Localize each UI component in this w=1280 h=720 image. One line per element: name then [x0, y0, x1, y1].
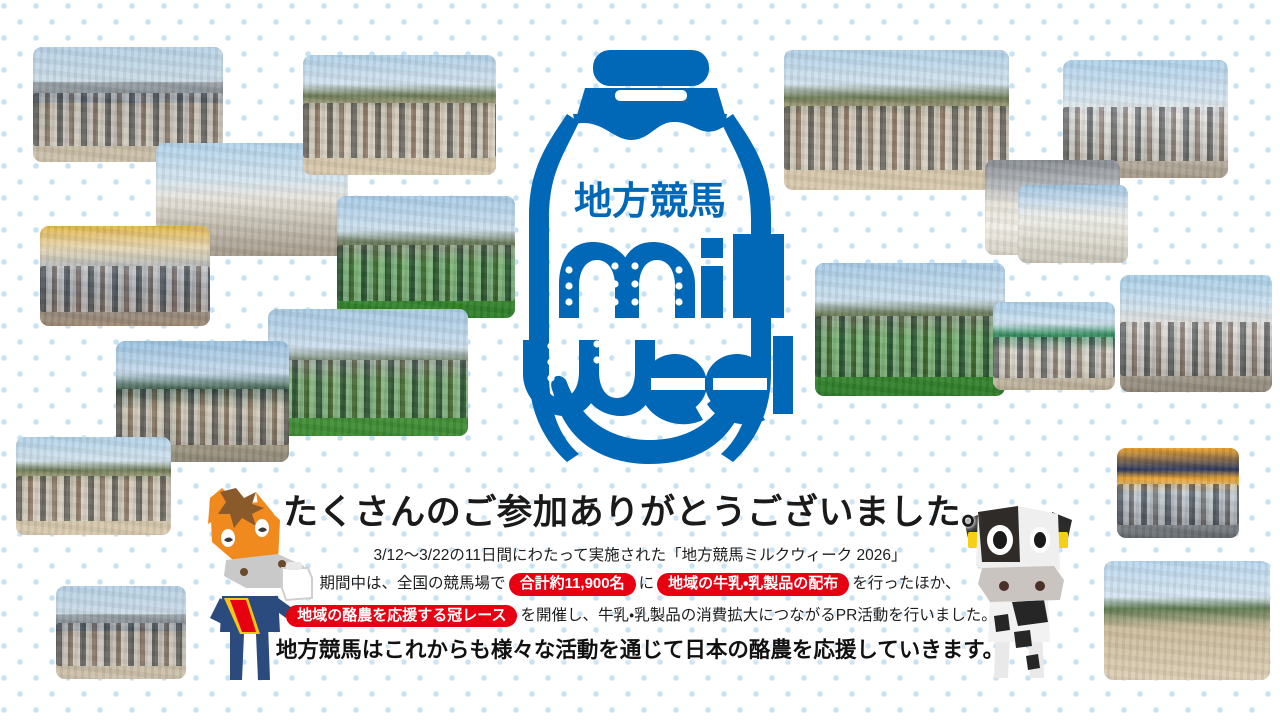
- collage-photo-image: [56, 586, 186, 679]
- collage-photo-image: [1104, 561, 1270, 680]
- collage-photo-image: [16, 437, 171, 535]
- collage-photo-image: [815, 263, 1005, 396]
- collage-photo: [1120, 275, 1272, 392]
- subline-2: 期間中は、全国の競馬場で合計約11,900名に地域の牛乳・乳製品の配布を行ったほ…: [0, 573, 1280, 595]
- logo-milk: [559, 234, 784, 318]
- collage-photo: [303, 55, 496, 175]
- poster-canvas: 地方競馬: [0, 0, 1280, 720]
- collage-photo-image: [1117, 448, 1239, 538]
- collage-photo-image: [993, 302, 1115, 390]
- collage-photo-image: [1120, 275, 1272, 392]
- collage-photo-image: [1018, 185, 1128, 263]
- line2-prefix: 期間中は、全国の競馬場で: [320, 575, 506, 592]
- badge-total-participants: 合計約11,900名: [509, 573, 636, 595]
- message-block: たくさんのご参加ありがとうございました。 3/12〜3/22の11日間にわたって…: [0, 492, 1280, 688]
- collage-photo-image: [337, 196, 515, 318]
- collage-photo-image: [40, 226, 210, 326]
- badge-sponsored-race: 地域の酪農を応援する冠レース: [286, 605, 517, 627]
- milk-week-logo: 地方競馬: [505, 44, 795, 474]
- subline-3: 地域の酪農を応援する冠レースを開催し、牛乳・乳製品の消費拡大につながるPR活動を…: [0, 605, 1280, 627]
- collage-photo: [1117, 448, 1239, 538]
- collage-photo: [16, 437, 171, 535]
- line3-suffix: を開催し、牛乳・乳製品の消費拡大につながるPR活動を行いました。: [520, 607, 996, 624]
- subline-1: 3/12〜3/22の11日間にわたって実施された「地方競馬ミルクウィーク 202…: [0, 547, 1280, 564]
- collage-photo: [993, 302, 1115, 390]
- badge-milk-distribution: 地域の牛乳・乳製品の配布: [657, 573, 849, 595]
- collage-photo-image: [784, 50, 1009, 190]
- closing-statement: 地方競馬はこれからも様々な活動を通じて日本の酪農を応援していきます。: [0, 638, 1280, 664]
- collage-photo: [784, 50, 1009, 190]
- collage-photo-image: [268, 309, 468, 436]
- collage-photo-image: [303, 55, 496, 175]
- line2-middle: に: [639, 575, 655, 592]
- collage-photo: [56, 586, 186, 679]
- headline: たくさんのご参加ありがとうございました。: [0, 492, 1280, 533]
- collage-photo: [1018, 185, 1128, 263]
- subline-1-text: 3/12〜3/22の11日間にわたって実施された「地方競馬ミルクウィーク 202…: [374, 547, 907, 564]
- line2-suffix: を行ったほか、: [852, 575, 960, 592]
- collage-photo: [815, 263, 1005, 396]
- logo-kanji: 地方競馬: [574, 179, 726, 223]
- collage-photo: [268, 309, 468, 436]
- collage-photo: [337, 196, 515, 318]
- collage-photo: [1104, 561, 1270, 680]
- collage-photo: [40, 226, 210, 326]
